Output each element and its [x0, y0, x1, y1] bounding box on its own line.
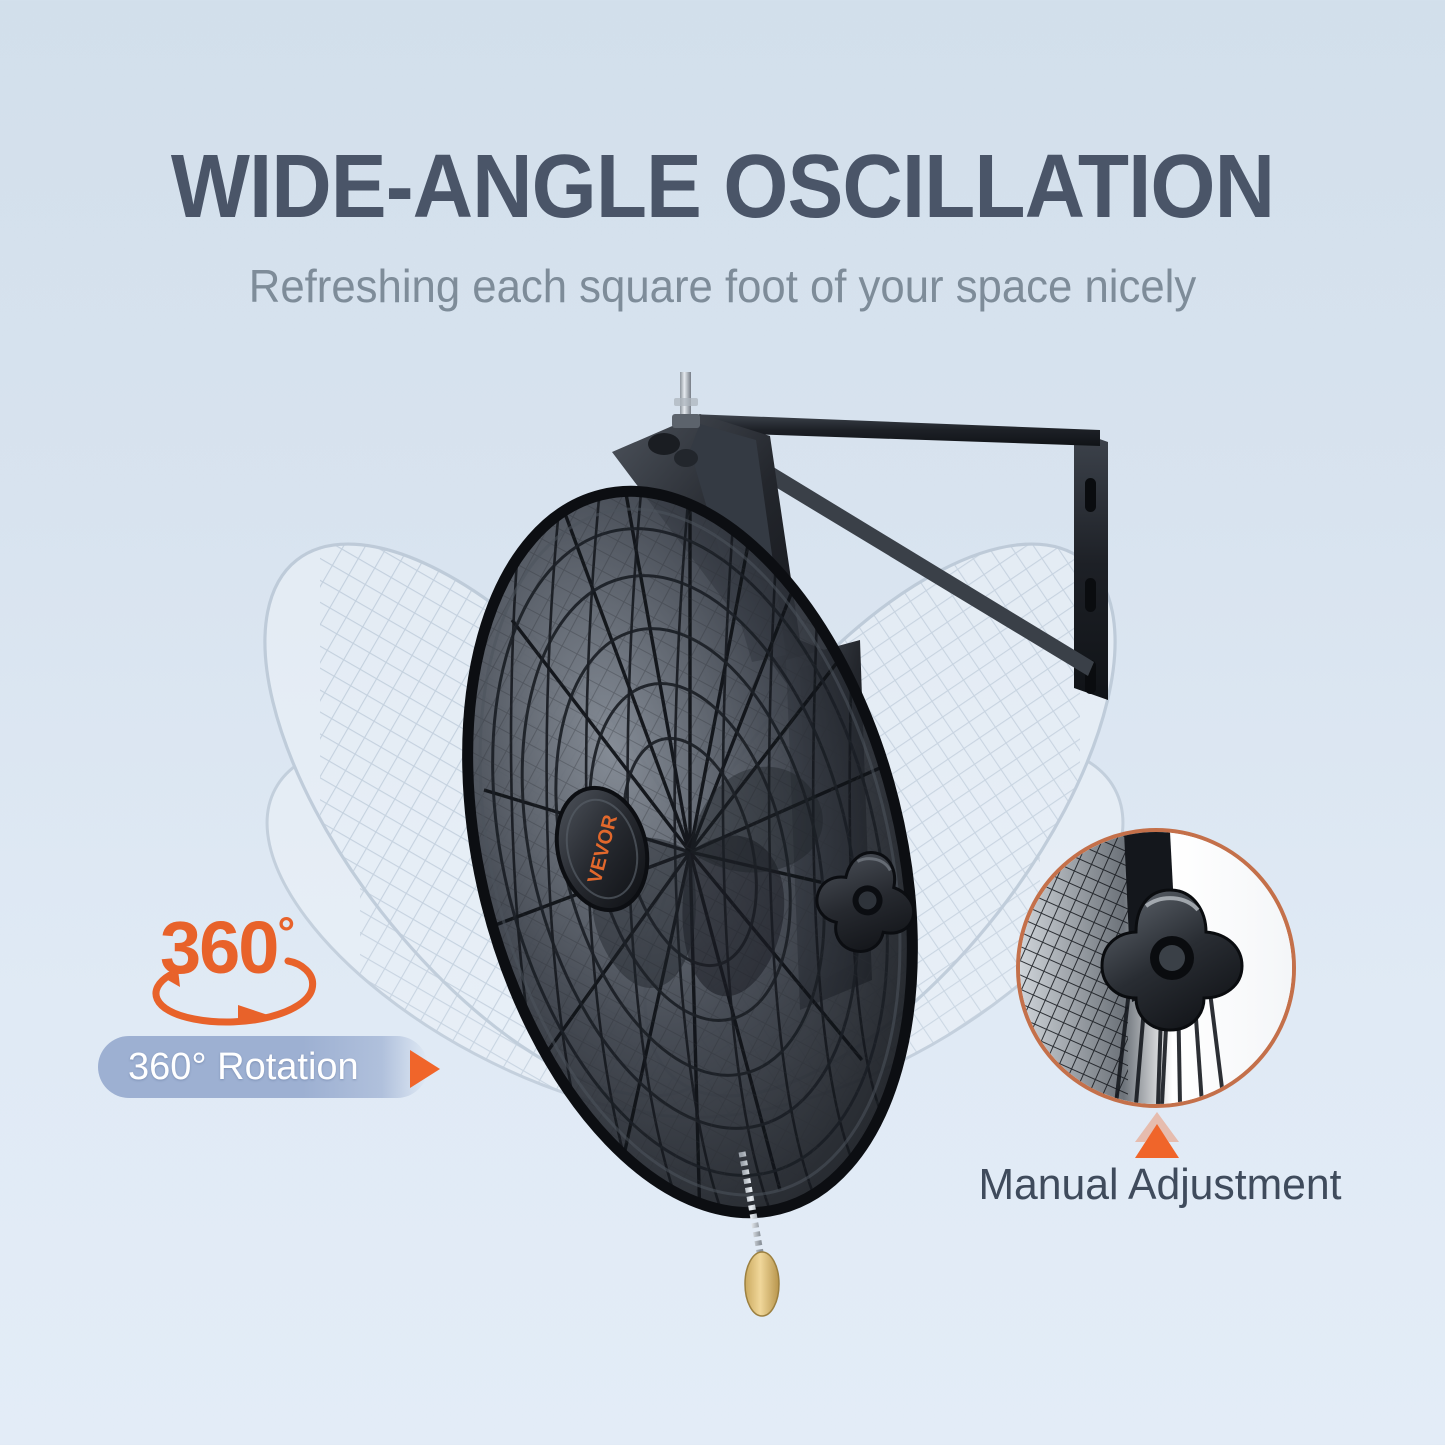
rotation-badge[interactable]: 360° Rotation	[98, 1036, 428, 1098]
product-feature-banner: VEVOR WIDE-ANGLE OSCILLATION Refreshing …	[0, 0, 1445, 1445]
rotation-360-icon-group: 360°	[150, 915, 350, 1025]
page-subtitle: Refreshing each square foot of your spac…	[36, 262, 1409, 310]
bracket-diagonal-brace	[734, 448, 1094, 676]
rotation-arrow-icon	[142, 949, 332, 1029]
triangle-right-icon	[410, 1050, 440, 1088]
pivot-yoke	[612, 414, 848, 700]
manual-adjustment-label: Manual Adjustment	[937, 1160, 1383, 1210]
knob-closeup-image	[1020, 832, 1292, 1104]
fan-guard-cage: VEVOR	[397, 444, 983, 1260]
adjustment-knob	[808, 843, 925, 961]
pivot-bolt	[672, 372, 700, 428]
bracket-hole	[1085, 478, 1096, 512]
pull-chain	[742, 1152, 779, 1316]
knob-closeup-inset	[1016, 828, 1296, 1108]
brand-logo-text: VEVOR	[584, 812, 622, 886]
fan-hub-cap: VEVOR	[544, 778, 659, 920]
motor-housing	[786, 640, 872, 1010]
bracket-hole	[1085, 578, 1096, 612]
ghost-fan-positions	[179, 468, 1202, 1280]
bracket-hole	[1085, 660, 1096, 694]
wall-mount-bracket	[612, 372, 1108, 700]
rotation-badge-label: 360° Rotation	[128, 1048, 359, 1086]
triangle-up-icon	[1133, 1108, 1181, 1162]
page-headline: WIDE-ANGLE OSCILLATION	[51, 142, 1395, 232]
